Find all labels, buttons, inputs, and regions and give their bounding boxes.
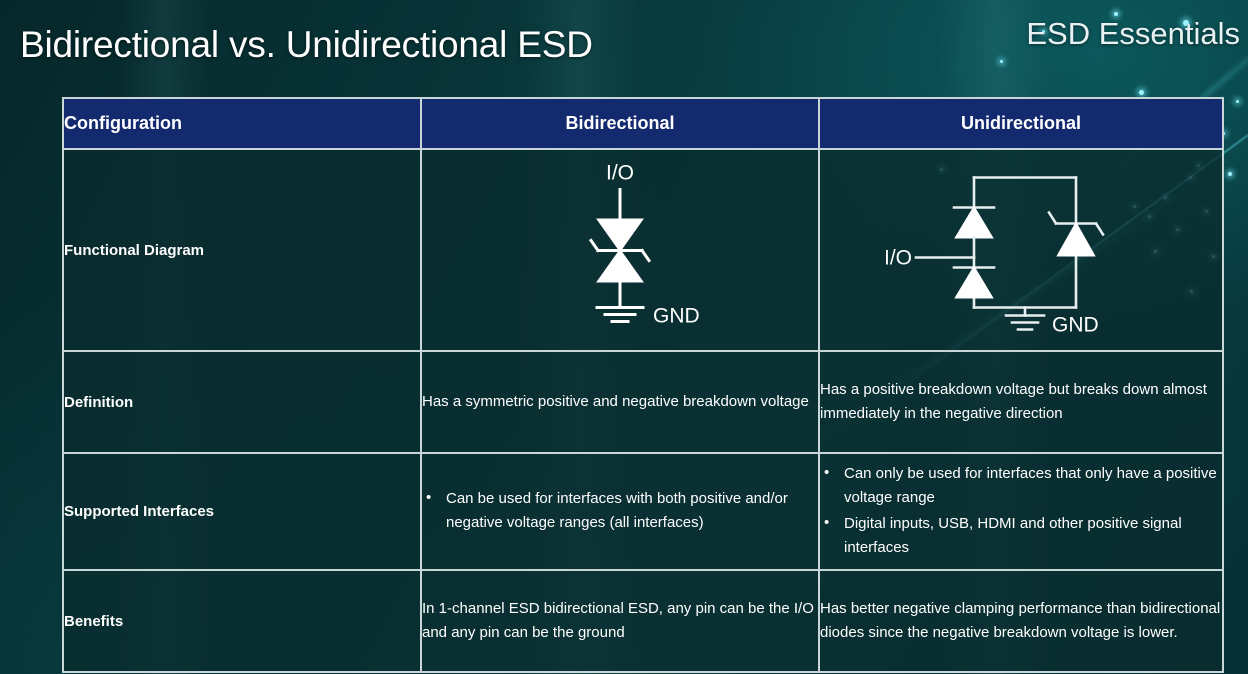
table-header: Configuration Bidirectional Unidirection… — [63, 98, 1223, 149]
series-label: ESD Essentials — [1026, 16, 1240, 52]
cell-unidirectional-diagram: I/O GND — [819, 149, 1223, 351]
cell-bidirectional-diagram: I/O GND — [421, 149, 819, 351]
row-label-benefits: Benefits — [63, 570, 421, 672]
column-header-unidirectional: Unidirectional — [819, 98, 1223, 149]
bidirectional-diagram-wrap: I/O GND — [422, 150, 818, 350]
page-title: Bidirectional vs. Unidirectional ESD — [20, 24, 593, 66]
io-label: I/O — [886, 247, 912, 270]
bullet-list-bidirectional: Can be used for interfaces with both pos… — [422, 487, 818, 536]
cell-interfaces-unidirectional: Can only be used for interfaces that onl… — [819, 453, 1223, 570]
table-row-benefits: Benefits In 1-channel ESD bidirectional … — [63, 570, 1223, 672]
row-label-functional-diagram: Functional Diagram — [63, 149, 421, 351]
row-label-supported-interfaces: Supported Interfaces — [63, 453, 421, 570]
cell-interfaces-bidirectional: Can be used for interfaces with both pos… — [421, 453, 819, 570]
table-row-functional-diagram: Functional Diagram — [63, 149, 1223, 351]
comparison-table: Configuration Bidirectional Unidirection… — [62, 97, 1224, 673]
row-label-definition: Definition — [63, 351, 421, 453]
sparkle-dot — [1000, 60, 1003, 63]
bidirectional-tvs-diode-icon: I/O GND — [525, 158, 715, 343]
list-item: Digital inputs, USB, HDMI and other posi… — [820, 512, 1222, 561]
sparkle-dot — [1236, 100, 1239, 103]
table-row-definition: Definition Has a symmetric positive and … — [63, 351, 1223, 453]
cell-definition-bidirectional: Has a symmetric positive and negative br… — [421, 351, 819, 453]
column-header-configuration: Configuration — [63, 98, 421, 149]
list-item: Can be used for interfaces with both pos… — [422, 487, 818, 536]
column-header-bidirectional: Bidirectional — [421, 98, 819, 149]
io-label: I/O — [606, 162, 634, 185]
bullet-list-unidirectional: Can only be used for interfaces that onl… — [820, 462, 1222, 560]
sparkle-dot — [1139, 90, 1144, 95]
gnd-label: GND — [653, 305, 700, 328]
unidirectional-diagram-wrap: I/O GND — [820, 150, 1222, 350]
cell-definition-unidirectional: Has a positive breakdown voltage but bre… — [819, 351, 1223, 453]
unidirectional-steering-diode-array-icon: I/O GND — [886, 158, 1156, 343]
gnd-label: GND — [1052, 314, 1099, 337]
cell-benefits-bidirectional: In 1-channel ESD bidirectional ESD, any … — [421, 570, 819, 672]
table-row-supported-interfaces: Supported Interfaces Can be used for int… — [63, 453, 1223, 570]
cell-benefits-unidirectional: Has better negative clamping performance… — [819, 570, 1223, 672]
slide-canvas: Bidirectional vs. Unidirectional ESD ESD… — [0, 0, 1248, 674]
sparkle-dot — [1228, 172, 1232, 176]
list-item: Can only be used for interfaces that onl… — [820, 462, 1222, 511]
table-body: Functional Diagram — [63, 149, 1223, 672]
table-header-row: Configuration Bidirectional Unidirection… — [63, 98, 1223, 149]
